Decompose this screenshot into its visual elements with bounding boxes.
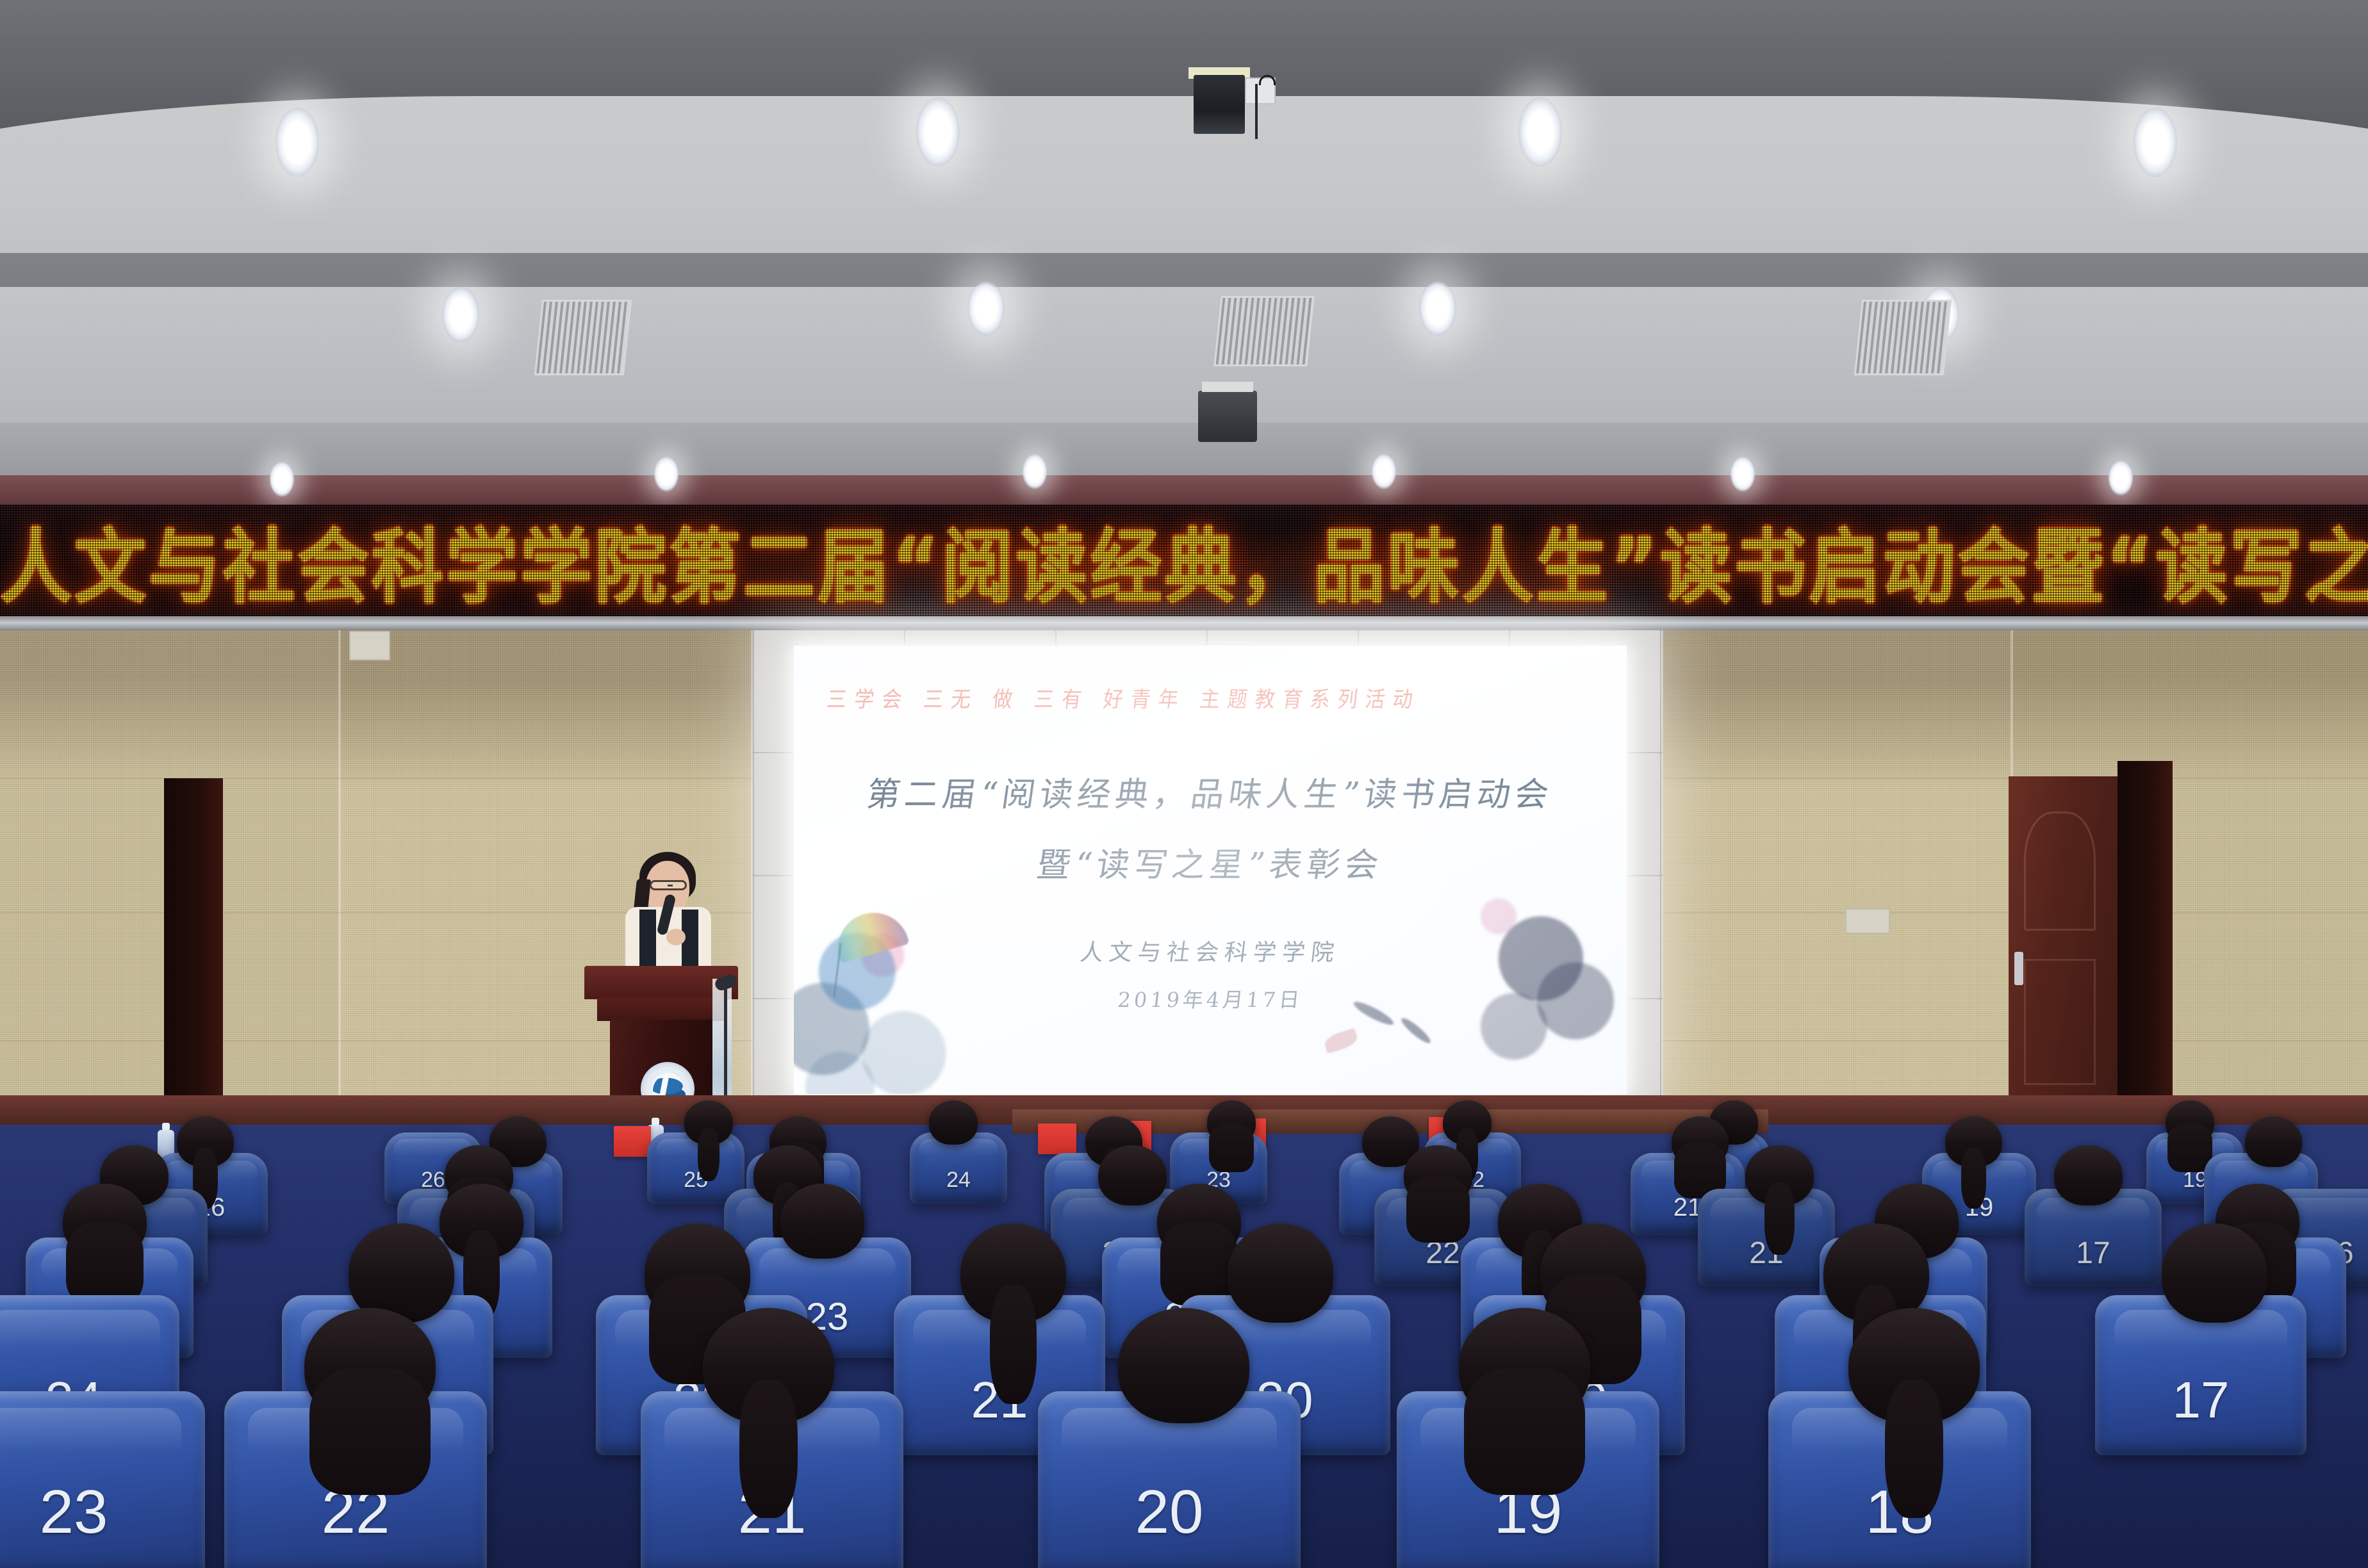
audience-member-head — [440, 1184, 523, 1259]
ceiling-downlight — [1518, 97, 1562, 167]
seat-number: 20 — [1038, 1477, 1301, 1548]
projection-screen: 三学会 三无 做 三有 好青年 主题教育系列活动 第二届“阅读经典，品味人生”读… — [794, 646, 1627, 1094]
wall-outlet-panel[interactable] — [1845, 908, 1890, 934]
audience-member-head — [1228, 1223, 1333, 1323]
door-handle-icon[interactable] — [2014, 952, 2023, 985]
audience-member-head — [1207, 1100, 1256, 1145]
ceiling-speaker — [1198, 391, 1257, 442]
audience-member-head — [929, 1100, 978, 1145]
led-scrolling-banner: 人文与社会科学学院第二届“阅读经典，品味人生”读书启动会暨“读写之星”表彰会 — [0, 505, 2368, 620]
petal-shape — [1322, 1028, 1359, 1054]
audience-member-head — [1404, 1145, 1472, 1205]
audience-member-head — [1848, 1308, 1980, 1423]
ceiling-air-vent — [1854, 300, 1952, 375]
wall-light-switch[interactable] — [349, 631, 390, 660]
ceiling-band-1 — [0, 163, 2368, 266]
door-lower-panel — [2024, 959, 2096, 1085]
audience-seating-area: 2625242322211918262524232221191726252423… — [0, 1095, 2368, 1568]
banner-downlight — [1371, 453, 1397, 489]
seat-number: 23 — [0, 1477, 205, 1548]
audience-member-head — [1945, 1116, 2002, 1167]
audience-member-head — [1157, 1184, 1241, 1259]
screen-organization: 人文与社会科学学院 — [794, 934, 1627, 967]
audience-member-head — [2245, 1116, 2302, 1167]
audience-member-head — [1098, 1145, 1167, 1205]
banner-downlight — [654, 456, 679, 492]
name-card — [614, 1126, 651, 1157]
wall-seam — [338, 630, 341, 1130]
name-card — [1038, 1123, 1076, 1154]
podium-mid — [597, 998, 725, 1021]
audience-member-head — [1118, 1308, 1249, 1423]
seat[interactable]: 25 — [647, 1132, 744, 1204]
audience-member-head — [1745, 1145, 1814, 1205]
audience-member-head — [2166, 1100, 2214, 1145]
right-door[interactable] — [2009, 776, 2117, 1127]
screen-header-text: 三学会 三无 做 三有 好青年 主题教育系列活动 — [825, 682, 1609, 714]
left-door-opening[interactable] — [164, 778, 223, 1124]
banner-downlight — [1022, 453, 1048, 489]
seat-number: 24 — [910, 1168, 1007, 1193]
auditorium-photo: 人文与社会科学学院第二届“阅读经典，品味人生”读书启动会暨“读写之星”表彰会 — [0, 0, 2368, 1568]
lotus-ink-artwork-right — [1441, 870, 1627, 1081]
ceiling-downlight — [275, 108, 319, 177]
glasses-icon — [650, 880, 687, 890]
seat-number: 17 — [2025, 1236, 2162, 1271]
banner-downlight — [2108, 460, 2134, 496]
ceiling-air-vent — [534, 300, 632, 375]
banner-downlight — [1730, 456, 1755, 492]
ceiling-downlight — [967, 281, 1005, 336]
ceiling-soffit — [0, 475, 2368, 509]
audience-member-head — [1443, 1100, 1492, 1145]
audience-member-head — [177, 1116, 234, 1167]
ceiling-air-vent — [1213, 296, 1315, 366]
audience-member-head — [960, 1223, 1066, 1323]
screen-title-line-1: 第二届“阅读经典，品味人生”读书启动会 — [794, 767, 1627, 815]
seat[interactable]: 23 — [0, 1391, 205, 1568]
ceiling-downlight — [2134, 108, 2177, 177]
audience-member-head — [63, 1184, 147, 1259]
audience-member-head — [1540, 1223, 1646, 1323]
screen-date: 2019年4月17日 — [794, 984, 1627, 1013]
audience-member-head — [684, 1100, 733, 1145]
seat-number: 25 — [647, 1168, 744, 1193]
audience-member-head — [1672, 1116, 1729, 1167]
microphone-stand — [724, 986, 727, 1095]
audience-member-head — [2162, 1223, 2267, 1323]
audience-member-head — [645, 1223, 750, 1323]
ceiling-downlight — [442, 287, 479, 342]
led-banner-text: 人文与社会科学学院第二届“阅读经典，品味人生”读书启动会暨“读写之星”表彰会 — [0, 505, 2368, 619]
ceiling-band-2 — [0, 287, 2368, 434]
screen-title-line-2: 暨“读写之星”表彰会 — [794, 838, 1627, 886]
ceiling-downlight — [916, 97, 960, 167]
ceiling-upper — [0, 0, 2368, 179]
audience-member-head — [703, 1308, 834, 1423]
ceiling-downlight — [1419, 281, 1456, 336]
ink-stroke — [1399, 1015, 1433, 1046]
ceiling-projector-icon — [1188, 61, 1253, 138]
audience-member-head — [780, 1184, 864, 1259]
banner-downlight — [269, 461, 295, 497]
seat-number: 17 — [2095, 1371, 2306, 1430]
speaker-hand — [666, 929, 686, 945]
audience-member-head — [1459, 1308, 1590, 1423]
audience-member-head — [304, 1308, 436, 1423]
right-door-opening[interactable] — [2117, 761, 2173, 1132]
door-upper-panel — [2024, 812, 2096, 931]
audience-member-head — [2054, 1145, 2123, 1205]
